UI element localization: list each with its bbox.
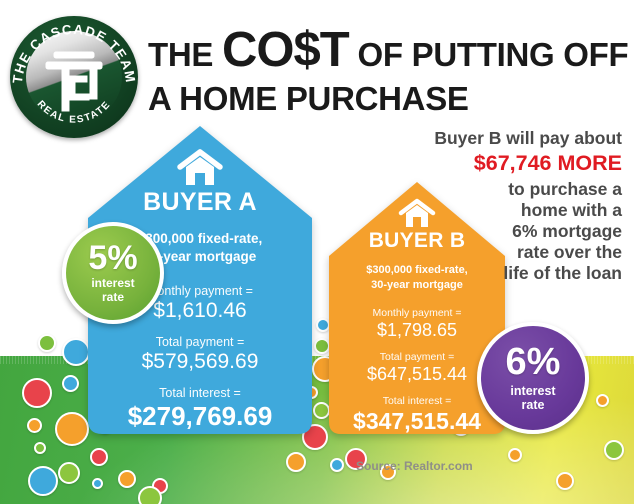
decor-bubble [92,478,103,489]
badge-6-label-line2: rate [510,398,555,412]
decor-bubble [316,318,330,332]
decor-bubble [28,466,58,496]
company-logo: THE CASCADE TEAM REAL ESTATE [10,16,138,138]
badge-5-label: interest rate [91,277,134,304]
badge-5-label-line2: rate [91,291,134,304]
callout-line-5: rate over the [517,242,622,262]
decor-bubble [22,378,52,408]
decor-bubble [62,375,79,392]
decor-bubble [556,472,574,490]
buyer-a-total-payment-value: $579,569.69 [88,350,312,374]
decor-bubble [508,448,522,462]
decor-bubble [55,412,89,446]
buyer-a-total-interest-value: $279,769.69 [88,401,312,432]
decor-bubble [314,338,330,354]
decor-bubble [62,338,90,366]
decor-bubble [38,334,56,352]
badge-6-percent: 6% [506,344,561,380]
decor-bubble [286,452,306,472]
decor-bubble [118,470,136,488]
decor-bubble [313,402,330,419]
buyer-b-total-interest-value: $347,515.44 [329,408,505,435]
page-title: THE CO$T OF PUTTING OFF A HOME PURCHASE [148,26,628,116]
badge-6-label-line1: interest [510,384,555,398]
callout-line-6: life of the loan [503,263,622,283]
infographic-canvas: THE CASCADE TEAM REAL ESTATE THE CO$T OF… [0,0,634,504]
decor-bubble [138,486,162,504]
callout-highlight: $67,746 MORE [408,151,622,177]
logo-arc-text: THE CASCADE TEAM REAL ESTATE [10,16,138,138]
callout-line-4: 6% mortgage [512,221,622,241]
title-the: THE [148,36,222,73]
logo-bottom-text: REAL ESTATE [35,99,114,126]
decor-bubble [596,394,609,407]
decor-bubble [27,418,42,433]
title-cost: CO$T [222,23,349,77]
callout-line-1: Buyer B will pay about [434,128,622,148]
interest-rate-badge-5: 5% interest rate [62,222,164,324]
svg-text:REAL ESTATE: REAL ESTATE [35,99,114,126]
logo-top-text: THE CASCADE TEAM [10,22,138,85]
buyer-b-total-interest-label: Total interest = [329,395,505,407]
decor-bubble [604,440,624,460]
callout-text: Buyer B will pay about $67,746 MORE to p… [408,128,622,284]
decor-bubble [34,442,46,454]
decor-bubble [58,462,80,484]
buyer-a-total-payment-label: Total payment = [88,335,312,349]
decor-bubble [90,448,108,466]
badge-5-label-line1: interest [91,277,134,290]
interest-rate-badge-6: 6% interest rate [477,322,589,434]
home-icon [176,148,224,186]
decor-bubble [330,458,344,472]
title-line-2: A HOME PURCHASE [148,82,628,116]
callout-line-2: to purchase a [508,179,622,199]
title-line-1: THE CO$T OF PUTTING OFF [148,26,628,76]
badge-5-percent: 5% [88,242,137,274]
callout-line-3: home with a [521,200,622,220]
title-of-putting-off: OF PUTTING OFF [349,36,629,73]
buyer-b-monthly-value: $1,798.65 [329,320,505,341]
buyer-a-total-interest-label: Total interest = [88,386,312,400]
source-attribution: Source: Realtor.com [356,459,473,473]
svg-text:THE CASCADE TEAM: THE CASCADE TEAM [10,22,138,85]
buyer-a-name: BUYER A [88,188,312,217]
buyer-b-monthly-label: Monthly payment = [329,307,505,319]
badge-6-label: interest rate [510,384,555,412]
